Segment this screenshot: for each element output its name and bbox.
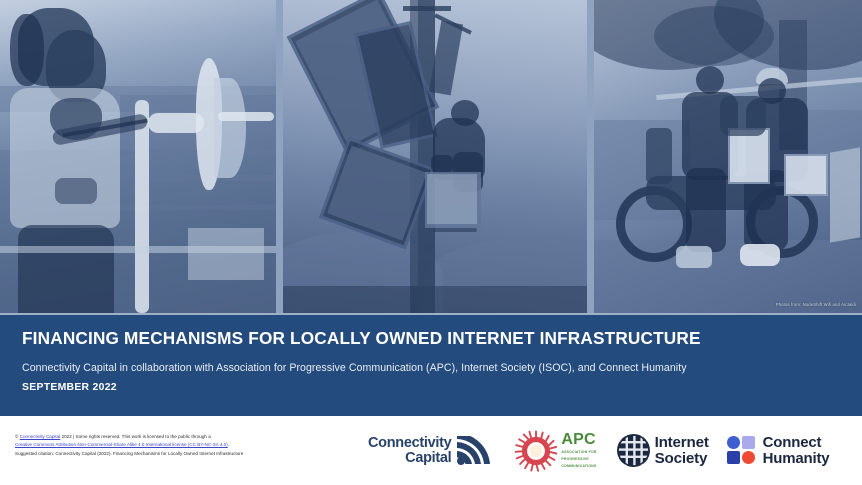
connect-humanity-wordmark: Connect Humanity (763, 435, 830, 467)
internet-society-wordmark: Internet Society (655, 435, 709, 467)
partner-logos: Connectivity Capital (360, 416, 862, 485)
apc-tagline-2: PROGRESSIVE (561, 457, 596, 462)
apc-wordmark: APC ASSOCIATION FOR PROGRESSIVE COMMUNIC… (561, 432, 596, 469)
legal-text-block: © Connectivity Capital 2022 | Some right… (15, 433, 345, 458)
photo-solar-tower (283, 0, 587, 313)
logo-internet-society[interactable]: Internet Society (617, 434, 709, 467)
photo-1-image (0, 0, 276, 313)
logo-connectivity-capital[interactable]: Connectivity Capital (368, 436, 493, 466)
cc-license-link[interactable]: Creative Commons Attribution-Non-Commerc… (15, 442, 228, 447)
globe-icon (617, 434, 650, 467)
isoc-line-2: Society (655, 451, 709, 467)
ch-square-purple (742, 436, 755, 449)
title-banner: FINANCING MECHANISMS FOR LOCALLY OWNED I… (0, 315, 862, 416)
legal-line-2: Creative Commons Attribution-Non-Commerc… (15, 441, 345, 449)
poster-cover-page: Photos from: NodeShift Wifi and AirJaldi… (0, 0, 862, 485)
photo-technician-antenna (0, 0, 276, 313)
ch-line-2: Humanity (763, 451, 830, 467)
page-subtitle: Connectivity Capital in collaboration wi… (22, 362, 840, 374)
connectivity-capital-link[interactable]: Connectivity Capital (20, 434, 61, 439)
photo-3-image (594, 0, 862, 313)
apc-acronym: APC (561, 432, 596, 448)
hero-photo-strip: Photos from: NodeShift Wifi and AirJaldi (0, 0, 862, 313)
four-shapes-icon (727, 436, 757, 466)
apc-sun-ring-icon (515, 430, 557, 472)
logo-apc[interactable]: APC ASSOCIATION FOR PROGRESSIVE COMMUNIC… (515, 430, 596, 472)
photo-2-image (283, 0, 587, 313)
apc-tagline-1: ASSOCIATION FOR (561, 450, 596, 455)
logo-connect-humanity[interactable]: Connect Humanity (727, 435, 830, 467)
ch-square-navy (727, 451, 740, 464)
legal-line-1: © Connectivity Capital 2022 | Some right… (15, 433, 345, 441)
apc-tagline-3: COMMUNICATIONS (561, 464, 596, 469)
connectivity-capital-wordmark: Connectivity Capital (368, 436, 451, 466)
cc-line-1: Connectivity (368, 436, 451, 451)
ch-line-1: Connect (763, 435, 830, 451)
wifi-signal-icon (455, 436, 493, 466)
photo-motorcycle-delivery: Photos from: NodeShift Wifi and AirJaldi (594, 0, 862, 313)
photo-credit: Photos from: NodeShift Wifi and AirJaldi (776, 302, 856, 307)
page-title: FINANCING MECHANISMS FOR LOCALLY OWNED I… (22, 329, 840, 348)
suggested-citation: Suggested citation: Connectivity Capital… (15, 450, 345, 458)
isoc-line-1: Internet (655, 435, 709, 451)
publication-date: SEPTEMBER 2022 (22, 382, 840, 393)
ch-circle-blue (727, 436, 740, 449)
ch-circle-red (742, 451, 755, 464)
legal-line-2-suffix: . (228, 442, 229, 447)
legal-line-1-suffix: 2022 | Some rights reserved. This work i… (60, 434, 210, 439)
footer: © Connectivity Capital 2022 | Some right… (0, 416, 862, 485)
cc-line-2: Capital (368, 451, 451, 466)
